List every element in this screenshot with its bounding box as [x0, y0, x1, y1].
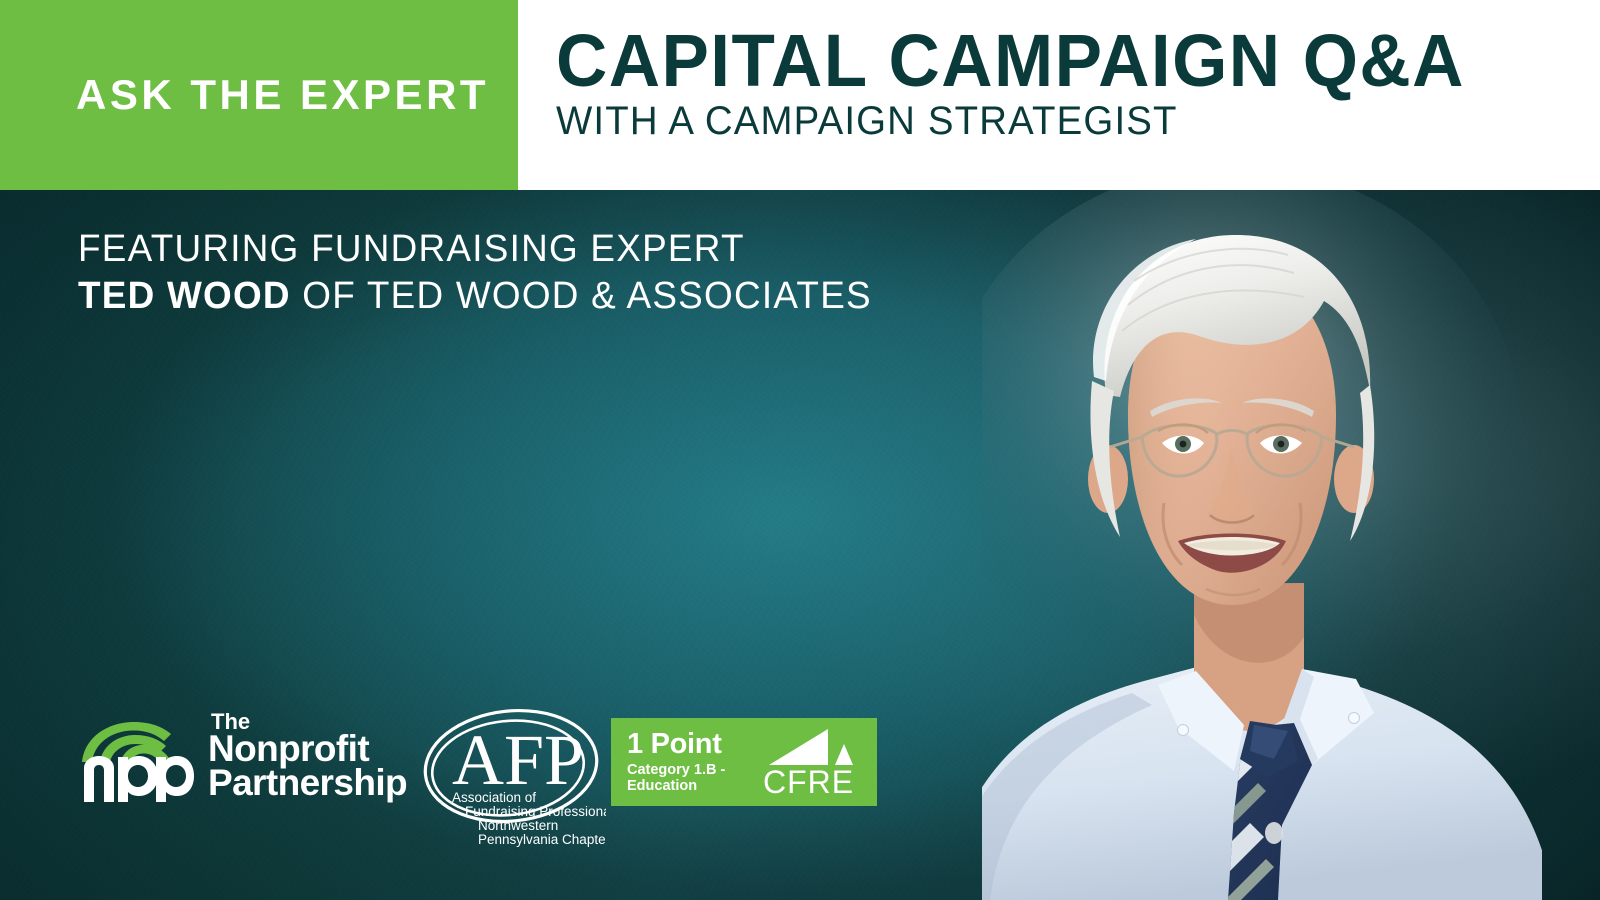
title-block: CAPITAL CAMPAIGN Q&A WITH A CAMPAIGN STR… — [518, 0, 1600, 190]
cfre-text-block: 1 Point Category 1.B - Education — [611, 730, 763, 794]
npp-line-1: Nonprofit — [208, 732, 407, 766]
afp-line-4: Pennsylvania Chapter — [478, 832, 606, 847]
logo-row: The Nonprofit Partnership AFP — [0, 700, 960, 900]
speaker-name: TED WOOD — [78, 275, 291, 317]
featuring-text: FEATURING FUNDRAISING EXPERT TED WOOD OF… — [78, 228, 896, 317]
cfre-acronym: CFRE — [763, 766, 854, 798]
header-bar: ASK THE EXPERT CAPITAL CAMPAIGN Q&A WITH… — [0, 0, 1600, 190]
cfre-category: Category 1.B - Education — [627, 763, 752, 794]
cfre-mark: CFRE — [763, 722, 873, 802]
cfre-badge: 1 Point Category 1.B - Education CFRE — [611, 718, 877, 806]
afp-line-1: Association of — [452, 790, 536, 805]
npp-line-2: Partnership — [208, 766, 407, 800]
eyebrow-label: ASK THE EXPERT — [76, 71, 489, 119]
afp-line-3: Northwestern — [478, 818, 558, 833]
page-title: CAPITAL CAMPAIGN Q&A — [556, 25, 1558, 97]
npp-logo: The Nonprofit Partnership — [78, 712, 407, 802]
featuring-line-1: FEATURING FUNDRAISING EXPERT — [78, 228, 872, 271]
promotional-graphic: FEATURING FUNDRAISING EXPERT TED WOOD OF… — [0, 0, 1600, 900]
npp-wordmark: The Nonprofit Partnership — [208, 712, 407, 802]
cfre-points: 1 Point — [627, 730, 763, 759]
cfre-sail-icon — [767, 728, 853, 768]
featuring-line-2: TED WOOD OF TED WOOD & ASSOCIATES — [78, 275, 872, 318]
speaker-affiliation: OF TED WOOD & ASSOCIATES — [291, 275, 872, 317]
page-subtitle: WITH A CAMPAIGN STRATEGIST — [556, 100, 1558, 143]
npp-mark-icon — [78, 716, 194, 802]
svg-text:AFP: AFP — [452, 720, 584, 800]
afp-line-2: Fundraising Professionals — [465, 804, 606, 819]
eyebrow-block: ASK THE EXPERT — [0, 0, 518, 190]
afp-logo: AFP Association of Fundraising Professio… — [416, 700, 606, 850]
